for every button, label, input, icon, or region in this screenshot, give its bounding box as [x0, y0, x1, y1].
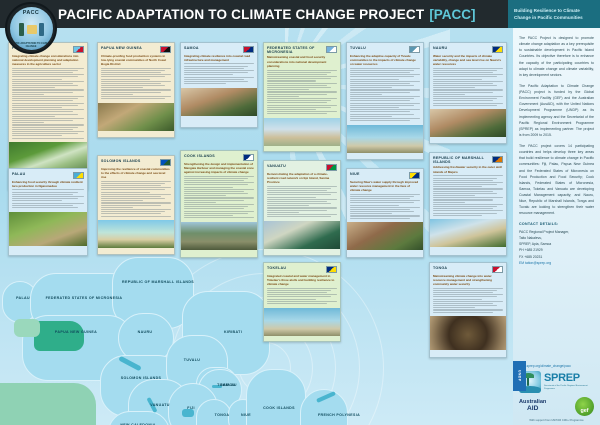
undp-wordmark: UNDP	[518, 370, 522, 382]
card-header: PALAU	[9, 169, 87, 180]
flag-icon-tonga	[492, 266, 503, 273]
gef-wordmark: gef	[580, 409, 588, 414]
map-label-tuvalu: TUVALU	[178, 358, 206, 362]
flag-icon-niue	[409, 172, 420, 179]
card-title: TONGA	[433, 266, 449, 270]
country-card-nauru[interactable]: NAURUWater security and the impacts of c…	[429, 42, 507, 144]
card-title: REPUBLIC OF MARSHALL ISLANDS	[433, 156, 492, 165]
flag-icon-rmi	[492, 156, 503, 163]
map-label-kiribati: KIRIBATI	[218, 330, 248, 334]
card-body-text	[181, 63, 257, 87]
logo-figure-center	[27, 25, 37, 34]
reef-lagoon-photo	[347, 125, 423, 153]
card-subtitle: Securing Niue's water supply through imp…	[347, 180, 423, 194]
country-card-png[interactable]: PAPUA NEW GUINEAClimate-proofing food pr…	[97, 42, 175, 138]
island-fiji	[182, 409, 194, 417]
map-label-cook-islands: COOK ISLANDS	[262, 406, 296, 410]
map-label-federated-states-of-micronesia: FEDERATED STATES OF MICRONESIA	[42, 296, 126, 300]
flooded-road-photo	[181, 222, 257, 250]
coastal-village-photo	[98, 103, 174, 131]
land-australia	[0, 383, 96, 425]
card-header: SOLOMON ISLANDS	[98, 156, 174, 167]
map-label-niue: NIUE	[237, 413, 255, 417]
flag-icon-cook	[243, 154, 254, 161]
sprep-logo: SPREP Secretariat of the Pacific Regiona…	[513, 371, 600, 393]
pacc-logo: PACC PACIFIC ADAPTATION TO CLIMATE CHANG…	[5, 2, 57, 54]
card-header: TONGA	[430, 263, 506, 274]
taro-patch-photo	[9, 212, 87, 246]
card-header: REPUBLIC OF MARSHALL ISLANDS	[430, 153, 506, 165]
map-label-vanuatu: VANUATU	[145, 403, 175, 407]
map-label-solomon-islands: SOLOMON ISLANDS	[118, 376, 164, 380]
card-body-text	[98, 181, 174, 221]
card-title: VANUATU	[267, 164, 288, 168]
flag-icon-fiji	[73, 46, 84, 53]
project-description: The PACC Project is designed to promote …	[519, 35, 594, 217]
country-card-tonga[interactable]: TONGAMainstreaming climate change into w…	[429, 262, 507, 358]
card-body-text	[347, 68, 423, 125]
card-subtitle: Enhancing food security through climate …	[9, 180, 87, 190]
card-subtitle: Integrating climate change consideration…	[9, 54, 87, 68]
card-body-text	[264, 288, 340, 308]
funding-partner-logos: Australian AID gef	[513, 393, 600, 416]
contact-details: PACC Regional Project Manager,Taito Naka…	[519, 229, 594, 267]
card-body-text	[347, 194, 423, 223]
description-paragraph-2: The Pacific Adaptation to Climate Change…	[519, 83, 594, 138]
map-label-papua-new-guinea: PAPUA NEW GUINEA	[50, 330, 102, 334]
info-sidebar: The PACC Project is designed to promote …	[513, 28, 600, 425]
card-header: VANUATU	[264, 161, 340, 172]
card-header: COOK ISLANDS	[181, 151, 257, 162]
flag-icon-palau	[73, 172, 84, 179]
ausaid-logo: Australian AID	[519, 400, 546, 412]
contact-heading: CONTACT DETAILS:	[519, 222, 594, 226]
card-header: PAPUA NEW GUINEA	[98, 43, 174, 54]
field-work-photo	[347, 222, 423, 250]
card-subtitle: Integrated coastal and water management …	[264, 274, 340, 288]
pacc-logo-name: PACC	[10, 10, 53, 16]
country-card-vanuatu[interactable]: VANUATUDemonstrating the adaptation of a…	[263, 160, 341, 256]
school-children-photo	[430, 109, 506, 137]
partner-logo-group: www.sprep.org/climate_change/pacc SPREP …	[513, 364, 600, 425]
card-subtitle: Climate-proofing food production systems…	[98, 54, 174, 68]
card-subtitle: Strengthening the design and implementat…	[181, 162, 257, 176]
card-header: SAMOA	[181, 43, 257, 54]
map-label-fiji: FIJI	[183, 406, 199, 410]
community-meeting-photo	[181, 88, 257, 116]
card-body-text	[264, 186, 340, 221]
atoll-lagoon-photo	[264, 308, 340, 336]
gef-logo: gef	[575, 397, 594, 416]
pacc-logo-emblem: PACC PACIFIC ADAPTATION TO CLIMATE CHANG…	[10, 7, 53, 50]
logo-figure-right	[39, 23, 44, 36]
country-card-niue[interactable]: NIUESecuring Niue's water supply through…	[346, 168, 424, 258]
card-title: NIUE	[350, 172, 362, 176]
land-png-highlight	[34, 321, 84, 351]
card-body-text	[9, 68, 87, 143]
land-indonesia	[14, 319, 40, 337]
country-card-solomon[interactable]: SOLOMON ISLANDSImproving the resilience …	[97, 155, 175, 255]
water-tank-photo	[264, 221, 340, 249]
coastal-shoreline-photo	[98, 220, 174, 248]
sprep-wordmark: SPREP	[544, 373, 594, 384]
map-label-nauru: NAURU	[132, 330, 158, 334]
card-body-text	[181, 176, 257, 222]
card-header: FEDERATED STATES OF MICRONESIA	[264, 43, 340, 55]
card-subtitle: Integrating climate resilience into coas…	[181, 54, 257, 64]
country-card-tokelau[interactable]: TOKELAUIntegrated coastal and water mana…	[263, 262, 341, 342]
map-label-french-polynesia: FRENCH POLYNESIA	[318, 413, 356, 417]
country-card-fsm[interactable]: FEDERATED STATES OF MICRONESIAMainstream…	[263, 42, 341, 152]
village-well-photo	[430, 316, 506, 350]
card-header: TUVALU	[347, 43, 423, 54]
map-label-samoa: SAMOA	[215, 383, 241, 387]
card-title: FEDERATED STATES OF MICRONESIA	[267, 46, 326, 55]
ausaid-line-2: AID	[519, 406, 546, 413]
card-title: SOLOMON ISLANDS	[101, 159, 143, 163]
card-title: TUVALU	[350, 46, 368, 50]
flag-icon-tokelau	[326, 266, 337, 273]
flag-icon-tuvalu	[409, 46, 420, 53]
card-subtitle: Water security and the impacts of climat…	[430, 54, 506, 68]
card-subtitle: Enhancing the adaptive capacity of Tuval…	[347, 54, 423, 68]
card-title: PAPUA NEW GUINEA	[101, 46, 144, 50]
map-label-tonga: TONGA	[210, 413, 234, 417]
country-card-tuvalu[interactable]: TUVALUEnhancing the adaptive capacity of…	[346, 42, 424, 160]
flag-icon-nauru	[492, 46, 503, 53]
pacc-logo-subtitle: PACIFIC ADAPTATION TO CLIMATE CHANGE	[10, 42, 53, 48]
card-header: NAURU	[430, 43, 506, 54]
card-body-text	[9, 189, 87, 211]
country-card-cook[interactable]: COOK ISLANDSStrengthening the design and…	[180, 150, 258, 258]
country-card-rmi[interactable]: REPUBLIC OF MARSHALL ISLANDSAddressing f…	[429, 152, 507, 256]
card-body-text	[430, 288, 506, 317]
card-body-text	[264, 70, 340, 118]
country-card-palau[interactable]: PALAUEnhancing food security through cli…	[8, 168, 88, 256]
card-header: NIUE	[347, 169, 423, 180]
flag-icon-vanuatu	[326, 164, 337, 171]
card-subtitle: Mainstreaming climate change into water …	[430, 274, 506, 288]
map-label-republic-of-marshall-islands: REPUBLIC OF MARSHALL ISLANDS	[122, 280, 170, 284]
flag-icon-solomon	[160, 159, 171, 166]
card-body-text	[430, 68, 506, 110]
page-title-acronym: [PACC]	[429, 7, 475, 22]
flag-icon-fsm	[326, 46, 337, 53]
card-header: TOKELAU	[264, 263, 340, 274]
sprep-tagline: Secretariat of the Pacific Regional Envi…	[544, 385, 594, 390]
card-subtitle: Improving the resilience of coastal comm…	[98, 167, 174, 181]
country-card-samoa[interactable]: SAMOAIntegrating climate resilience into…	[180, 42, 258, 128]
taro-pond-photo	[264, 118, 340, 146]
flag-icon-png	[160, 46, 171, 53]
logo-figure-left	[19, 23, 24, 36]
card-subtitle: Demonstrating the adaptation of a climat…	[264, 172, 340, 186]
page-title: PACIFIC ADAPTATION TO CLIMATE CHANGE PRO…	[58, 7, 424, 22]
contact-line-6[interactable]: EM taiton@sprep.org	[519, 260, 594, 266]
support-note: With support from UNITAR C3D+ Programme	[513, 416, 600, 425]
card-body-text	[98, 68, 174, 103]
eez-cook	[246, 369, 306, 425]
flag-icon-samoa	[243, 46, 254, 53]
description-paragraph-1: The PACC Project is designed to promote …	[519, 35, 594, 78]
card-body-text	[430, 175, 506, 219]
card-title: TOKELAU	[267, 266, 288, 270]
atoll-palms-photo	[430, 219, 506, 247]
description-paragraph-3: The PACC project covers 14 participating…	[519, 143, 594, 217]
card-subtitle: Mainstreaming coastal and food security …	[264, 55, 340, 69]
map-label-palau: PALAU	[8, 296, 38, 300]
undp-logo: UNDP	[513, 361, 526, 391]
card-title: PALAU	[12, 172, 28, 176]
card-title: NAURU	[433, 46, 449, 50]
project-website-link[interactable]: www.sprep.org/climate_change/pacc	[513, 364, 600, 371]
tagline-banner: Building Resilience to Climate Change in…	[508, 0, 600, 28]
card-title: SAMOA	[184, 46, 201, 50]
card-subtitle: Addressing freshwater security in the ou…	[430, 165, 506, 175]
card-title: COOK ISLANDS	[184, 154, 217, 158]
poster-body: PALAUFEDERATED STATES OF MICRONESIAREPUB…	[0, 28, 513, 425]
